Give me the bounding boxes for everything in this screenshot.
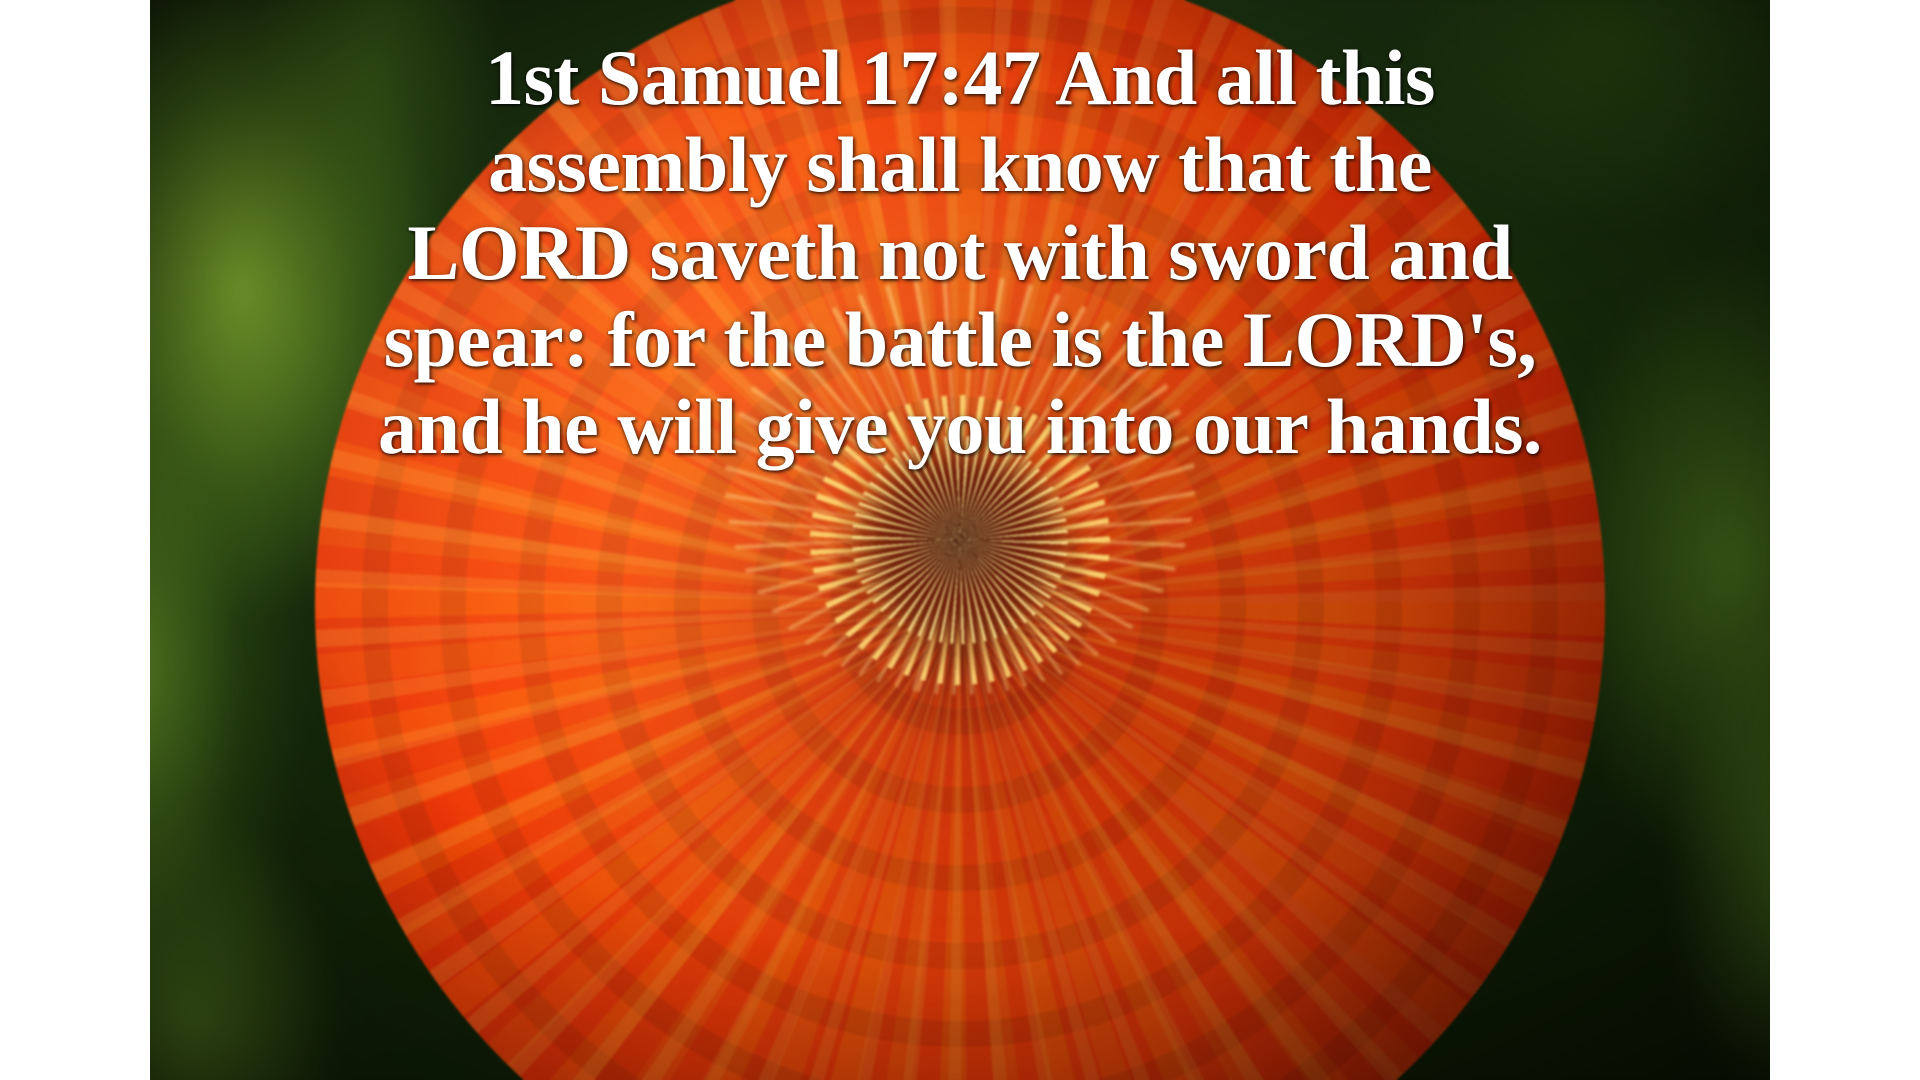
scripture-overlay: 1st Samuel 17:47 And all this assembly s…	[150, 34, 1770, 471]
letterbox-right-bar	[1770, 0, 1920, 1080]
image-canvas: 1st Samuel 17:47 And all this assembly s…	[0, 0, 1920, 1080]
letterbox-left-bar	[0, 0, 150, 1080]
verse-text: 1st Samuel 17:47 And all this assembly s…	[178, 34, 1742, 471]
